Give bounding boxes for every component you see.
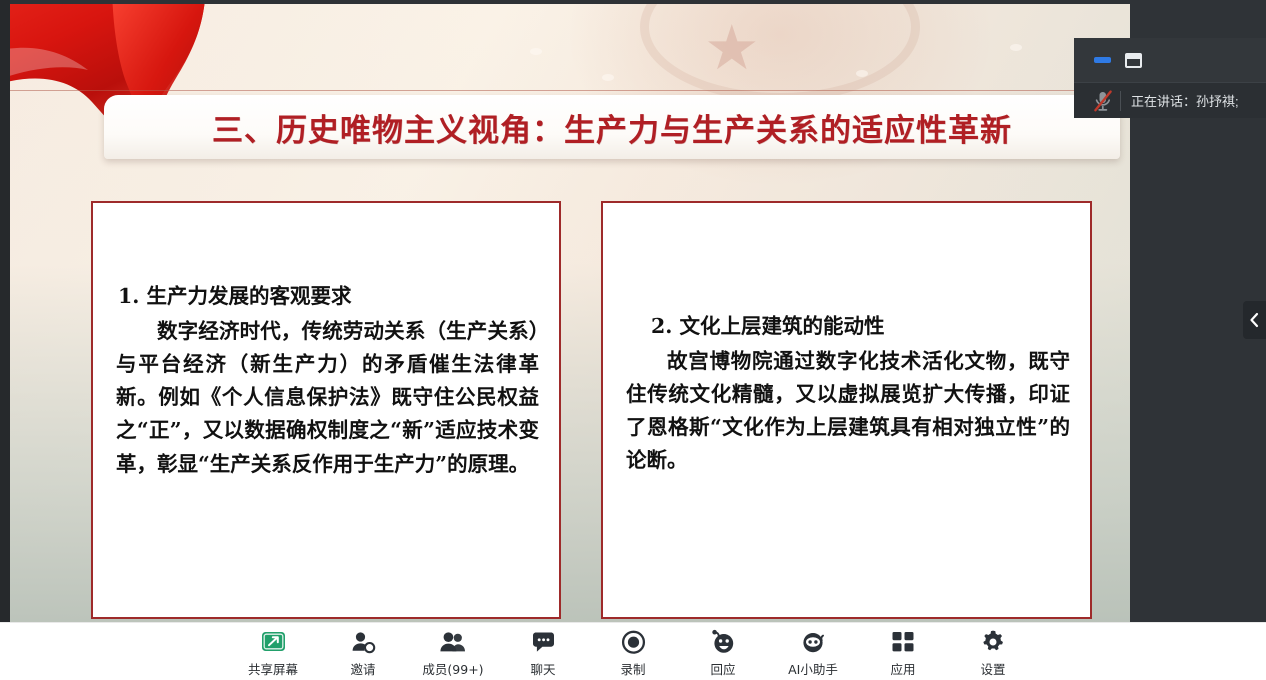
panel-left-heading: 1. 生产力发展的客观要求 xyxy=(118,281,539,313)
emblem-dot xyxy=(1010,44,1022,51)
record-circle-icon xyxy=(620,627,647,657)
content-panel-left: 1. 生产力发展的客观要求 数字经济时代，传统劳动关系（生产关系）与平台经济（新… xyxy=(91,201,561,619)
apps-grid-icon xyxy=(890,627,916,657)
toolbar-label-settings: 设置 xyxy=(980,659,1005,678)
minimize-icon[interactable] xyxy=(1094,57,1111,63)
ai-assistant-icon xyxy=(799,627,827,657)
participants-icon xyxy=(439,627,467,657)
share-screen-icon xyxy=(260,627,287,657)
toolbar-item-record[interactable]: 录制 xyxy=(600,627,666,678)
toolbar-label-record: 录制 xyxy=(620,659,645,678)
toolbar-label-reaction: 回应 xyxy=(710,659,735,678)
collapse-panel-button[interactable] xyxy=(1243,301,1266,339)
toolbar-item-invite[interactable]: 邀请 xyxy=(330,627,396,678)
toolbar-item-apps[interactable]: 应用 xyxy=(870,627,936,678)
shared-screen-stage: 三、历史唯物主义视角：生产力与生产关系的适应性革新 1. 生产力发展的客观要求 … xyxy=(0,0,1266,622)
speaking-status-bar: 正在讲话：孙抒祺; xyxy=(1074,82,1266,118)
emblem-ring xyxy=(640,4,920,102)
invite-person-icon xyxy=(350,627,377,657)
slide-title: 三、历史唯物主义视角：生产力与生产关系的适应性革新 xyxy=(212,105,1012,150)
restore-window-icon[interactable] xyxy=(1125,53,1142,68)
emblem-dot xyxy=(530,48,542,55)
panel-right-body: 故宫博物院通过数字化技术活化文物，既守住传统文化精髓，又以虚拟展览扩大传播，印证… xyxy=(626,345,1070,478)
toolbar-label-share-screen: 共享屏幕 xyxy=(248,659,298,678)
stage-left-edge xyxy=(0,0,10,622)
toolbar-item-participants[interactable]: 成员(99+) xyxy=(420,627,486,678)
speaking-status-text: 正在讲话：孙抒祺; xyxy=(1131,91,1239,110)
toolbar-label-ai-assistant: AI小助手 xyxy=(788,659,838,678)
list-menu-icon[interactable] xyxy=(1156,53,1175,68)
speaking-divider xyxy=(1120,91,1121,111)
toolbar-item-share-screen[interactable]: 共享屏幕 xyxy=(240,627,306,678)
mic-muted-icon xyxy=(1090,89,1116,113)
toolbar-buttons: 共享屏幕 邀请 xyxy=(0,623,1266,680)
toolbar-label-invite: 邀请 xyxy=(350,659,375,678)
toolbar-label-apps: 应用 xyxy=(890,659,915,678)
window-controls-bar xyxy=(1074,38,1266,82)
toolbar-item-chat[interactable]: 聊天 xyxy=(510,627,576,678)
toolbar-label-participants: 成员(99+) xyxy=(422,659,483,678)
slide-title-plaque: 三、历史唯物主义视角：生产力与生产关系的适应性革新 xyxy=(104,95,1120,159)
meeting-toolbar: 频 共享屏幕 xyxy=(0,622,1266,680)
content-panel-right: 2. 文化上层建筑的能动性 故宫博物院通过数字化技术活化文物，既守住传统文化精髓… xyxy=(601,201,1092,619)
toolbar-item-ai-assistant[interactable]: AI小助手 xyxy=(780,627,846,678)
toolbar-label-chat: 聊天 xyxy=(530,659,555,678)
toolbar-item-reaction[interactable]: 回应 xyxy=(690,627,756,678)
chevron-left-icon xyxy=(1249,312,1260,328)
meeting-window: 三、历史唯物主义视角：生产力与生产关系的适应性革新 1. 生产力发展的客观要求 … xyxy=(0,0,1266,680)
gear-icon xyxy=(980,627,1006,657)
header-rule xyxy=(10,90,1130,91)
reaction-emoji-icon xyxy=(710,627,737,657)
presentation-slide: 三、历史唯物主义视角：生产力与生产关系的适应性革新 1. 生产力发展的客观要求 … xyxy=(10,4,1130,622)
emblem-dot xyxy=(602,74,614,81)
chat-bubble-icon xyxy=(530,627,557,657)
panel-right-heading: 2. 文化上层建筑的能动性 xyxy=(651,311,1070,343)
toolbar-item-settings[interactable]: 设置 xyxy=(960,627,1026,678)
panel-left-body: 数字经济时代，传统劳动关系（生产关系）与平台经济（新生产力）的矛盾催生法律革新。… xyxy=(116,315,539,481)
emblem-dot xyxy=(856,70,868,77)
